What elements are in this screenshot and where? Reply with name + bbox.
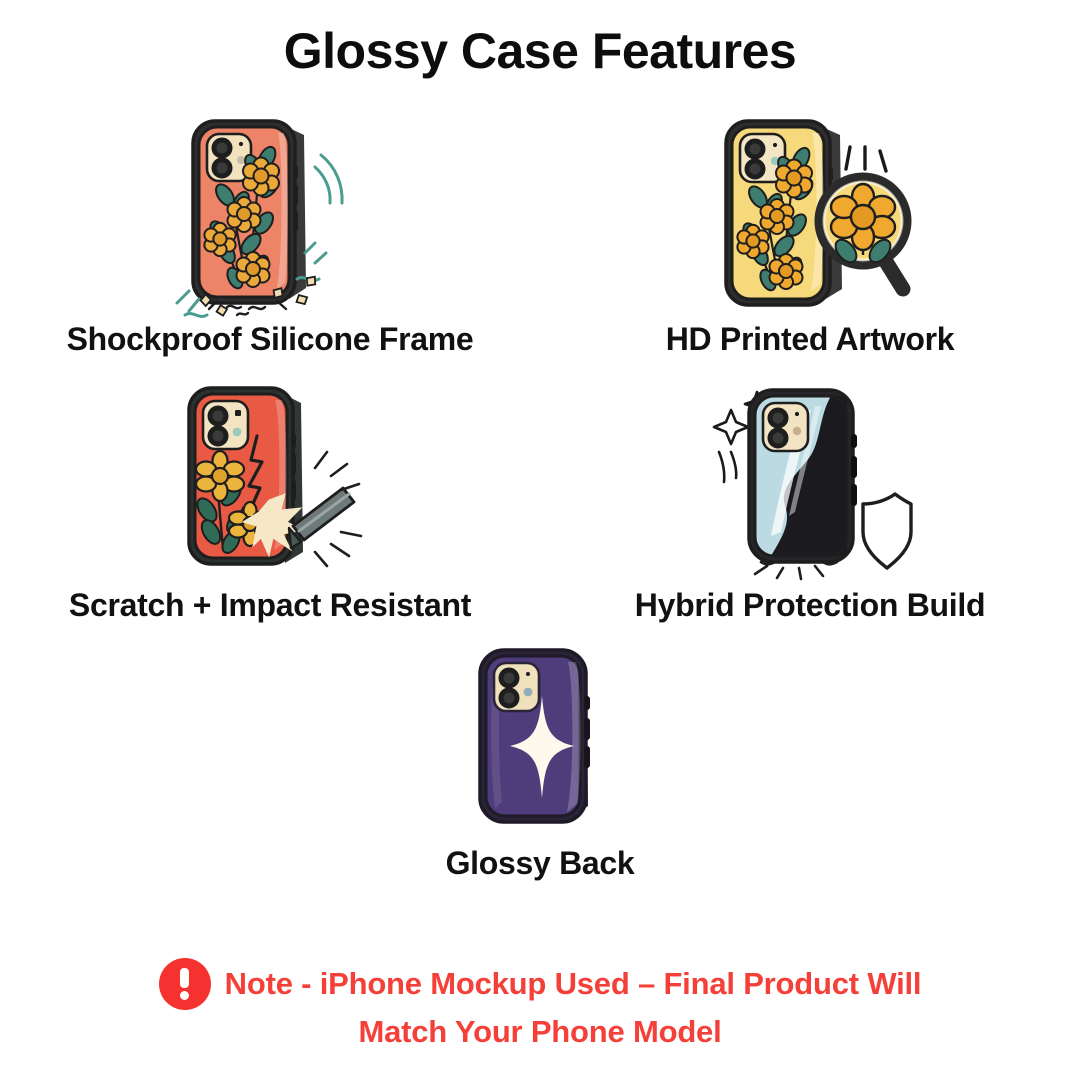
page-title: Glossy Case Features bbox=[284, 24, 797, 79]
feature-item-hybrid-protection-build: Hybrid Protection Build bbox=[540, 369, 1080, 635]
note-disclaimer: Note - iPhone Mockup Used – Final Produc… bbox=[0, 958, 1080, 1052]
exclamation-mark bbox=[180, 968, 189, 1000]
feature-label: Hybrid Protection Build bbox=[635, 589, 985, 623]
feature-item-hd-printed-artwork: HD Printed Artwork bbox=[540, 103, 1080, 369]
features-grid: Shockproof Silicone Frame bbox=[0, 103, 1080, 885]
note-line-1: Note - iPhone Mockup Used – Final Produc… bbox=[159, 958, 922, 1010]
phone-case-purple-sparkle-icon bbox=[450, 635, 630, 845]
feature-label: Glossy Back bbox=[446, 847, 635, 881]
feature-item-scratch-impact-resistant: Scratch + Impact Resistant bbox=[0, 369, 540, 635]
feature-item-shockproof-silicone-frame: Shockproof Silicone Frame bbox=[0, 103, 540, 369]
note-text-line1: Note - iPhone Mockup Used – Final Produc… bbox=[225, 964, 922, 1004]
feature-label: HD Printed Artwork bbox=[666, 323, 955, 357]
feature-label: Shockproof Silicone Frame bbox=[67, 323, 474, 357]
phone-case-red-scratch-blade-icon bbox=[165, 369, 375, 587]
glossy-case-features-page: Glossy Case Features bbox=[0, 0, 1080, 1080]
phone-case-yellow-floral-magnifier-icon bbox=[700, 103, 920, 321]
phone-case-hybrid-shield-icon bbox=[705, 369, 915, 587]
feature-item-glossy-back: Glossy Back bbox=[0, 635, 1080, 885]
exclamation-circle-icon bbox=[159, 958, 211, 1010]
phone-case-coral-floral-impact-icon bbox=[165, 103, 375, 321]
note-text-line2: Match Your Phone Model bbox=[358, 1012, 721, 1052]
feature-label: Scratch + Impact Resistant bbox=[69, 589, 471, 623]
